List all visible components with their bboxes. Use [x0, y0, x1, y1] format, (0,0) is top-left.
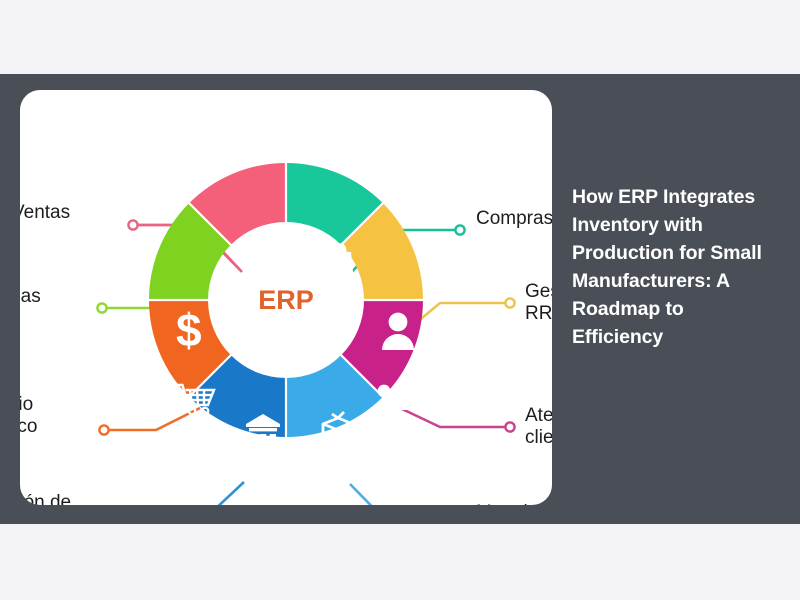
label-comercio-line1: ercio: [20, 394, 33, 416]
screenshot-stage: $ ERP Ventas anzas ercio ónico estión de…: [0, 0, 800, 600]
infographic-card: $ ERP Ventas anzas ercio ónico estión de…: [20, 90, 552, 505]
dot-rrhh: [505, 298, 514, 307]
dollar-icon: $: [176, 304, 202, 356]
label-compras: Compras: [476, 208, 552, 230]
erp-wheel-svg: $ ERP: [20, 90, 552, 505]
label-rrhh-line2: RR.H: [525, 303, 552, 325]
dot-finanzas: [97, 303, 106, 312]
connector-line-atencion: [400, 408, 510, 427]
label-atencion-line2: clien: [525, 427, 552, 449]
article-title: How ERP Integrates Inventory with Produc…: [572, 183, 762, 351]
label-finanzas: anzas: [20, 286, 41, 308]
label-atencion-line1: Aten: [525, 405, 552, 427]
dot-compras: [455, 225, 464, 234]
label-inventario-line1: Manejo d: [476, 502, 552, 505]
label-ventas: Ventas: [20, 202, 70, 224]
dot-atencion: [505, 422, 514, 431]
dot-comercio: [99, 425, 108, 434]
erp-center-label: ERP: [258, 285, 314, 315]
svg-text:$: $: [176, 304, 202, 356]
label-comercio-line2: ónico: [20, 416, 37, 438]
erp-wheel-diagram: $ ERP Ventas anzas ercio ónico estión de…: [20, 90, 552, 505]
dot-ventas: [128, 220, 137, 229]
label-rrhh-line1: Gest: [525, 281, 552, 303]
label-almacen-line1: estión de: [20, 492, 71, 505]
connector-line-inventario: [350, 484, 460, 505]
connector-line-almacen: [133, 482, 244, 505]
